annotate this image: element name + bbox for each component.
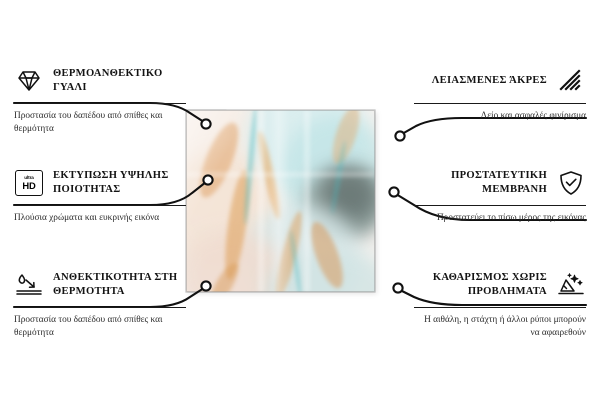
feature-title: ΘΕΡΜΟΑΝΘΕΚΤΙΚΟ ΓΥΑΛΙ	[53, 67, 186, 95]
feature-header: ultra HD ΕΚΤΥΠΩΣΗ ΥΨΗΛΗΣ ΠΟΙΟΤΗΤΑΣ	[14, 166, 186, 200]
feature-title: ΚΑΘΑΡΙΣΜΟΣ ΧΩΡΙΣ ΠΡΟΒΛΗΜΑΤΑ	[414, 271, 547, 299]
feature-header: ΘΕΡΜΟΑΝΘΕΚΤΙΚΟ ΓΥΑΛΙ	[14, 64, 186, 98]
feature-protective-membrane: ΠΡΟΣΤΑΤΕΥΤΙΚΗ ΜΕΜΒΡΑΝΗ Προστατεύει το πί…	[414, 166, 586, 225]
feature-body: Προστασία του δαπέδου από σπίθες και θερ…	[14, 314, 186, 341]
beveled-edge-icon	[556, 68, 586, 94]
feature-title: ΑΝΘΕΚΤΙΚΟΤΗΤΑ ΣΤΗ ΘΕΡΜΟΤΗΤΑ	[53, 271, 186, 299]
glass-panel-front	[186, 110, 375, 292]
diamond-icon	[14, 68, 44, 94]
feature-heat-durability: ΑΝΘΕΚΤΙΚΟΤΗΤΑ ΣΤΗ ΘΕΡΜΟΤΗΤΑ Προστασία το…	[14, 268, 186, 341]
feature-header: ΠΡΟΣΤΑΤΕΥΤΙΚΗ ΜΕΜΒΡΑΝΗ	[414, 166, 586, 200]
feature-body: Η αιθάλη, η στάχτη ή άλλοι ρύποι μπορούν…	[414, 314, 586, 341]
divider	[414, 205, 586, 206]
feature-heat-resistant-glass: ΘΕΡΜΟΑΝΘΕΚΤΙΚΟ ΓΥΑΛΙ Προστασία του δαπέδ…	[14, 64, 186, 137]
flame-deflect-icon	[14, 272, 44, 298]
shield-check-icon	[556, 170, 586, 196]
feature-high-quality-print: ultra HD ΕΚΤΥΠΩΣΗ ΥΨΗΛΗΣ ΠΟΙΟΤΗΤΑΣ Πλούσ…	[14, 166, 186, 225]
glass-reflection	[186, 110, 375, 292]
feature-easy-cleaning: ΚΑΘΑΡΙΣΜΟΣ ΧΩΡΙΣ ΠΡΟΒΛΗΜΑΤΑ Η αιθάλη, η …	[414, 268, 586, 341]
product-image	[186, 110, 411, 292]
divider	[414, 103, 586, 104]
feature-body: Λείο και ασφαλές φινίρισμα	[414, 110, 586, 123]
divider	[14, 307, 186, 308]
feature-header: ΚΑΘΑΡΙΣΜΟΣ ΧΩΡΙΣ ΠΡΟΒΛΗΜΑΤΑ	[414, 268, 586, 302]
feature-body: Προστασία του δαπέδου από σπίθες και θερ…	[14, 110, 186, 137]
divider	[14, 205, 186, 206]
sparkle-clean-icon	[556, 272, 586, 298]
ultra-hd-badge-icon: ultra HD	[14, 170, 44, 196]
feature-polished-edges: ΛΕΙΑΣΜΕΝΕΣ ΆΚΡΕΣ Λείο και ασφαλές φινίρι…	[414, 64, 586, 123]
infographic-stage: ΘΕΡΜΟΑΝΘΕΚΤΙΚΟ ΓΥΑΛΙ Προστασία του δαπέδ…	[0, 0, 600, 400]
feature-header: ΛΕΙΑΣΜΕΝΕΣ ΆΚΡΕΣ	[414, 64, 586, 98]
hd-label: HD	[22, 181, 35, 190]
feature-title: ΠΡΟΣΤΑΤΕΥΤΙΚΗ ΜΕΜΒΡΑΝΗ	[414, 169, 547, 197]
feature-title: ΕΚΤΥΠΩΣΗ ΥΨΗΛΗΣ ΠΟΙΟΤΗΤΑΣ	[53, 169, 186, 197]
feature-header: ΑΝΘΕΚΤΙΚΟΤΗΤΑ ΣΤΗ ΘΕΡΜΟΤΗΤΑ	[14, 268, 186, 302]
feature-body: Πλούσια χρώματα και ευκρινής εικόνα	[14, 212, 186, 225]
feature-body: Προστατεύει το πίσω μέρος της εικόνας	[414, 212, 586, 225]
divider	[414, 307, 586, 308]
feature-title: ΛΕΙΑΣΜΕΝΕΣ ΆΚΡΕΣ	[414, 74, 547, 88]
divider	[14, 103, 186, 104]
